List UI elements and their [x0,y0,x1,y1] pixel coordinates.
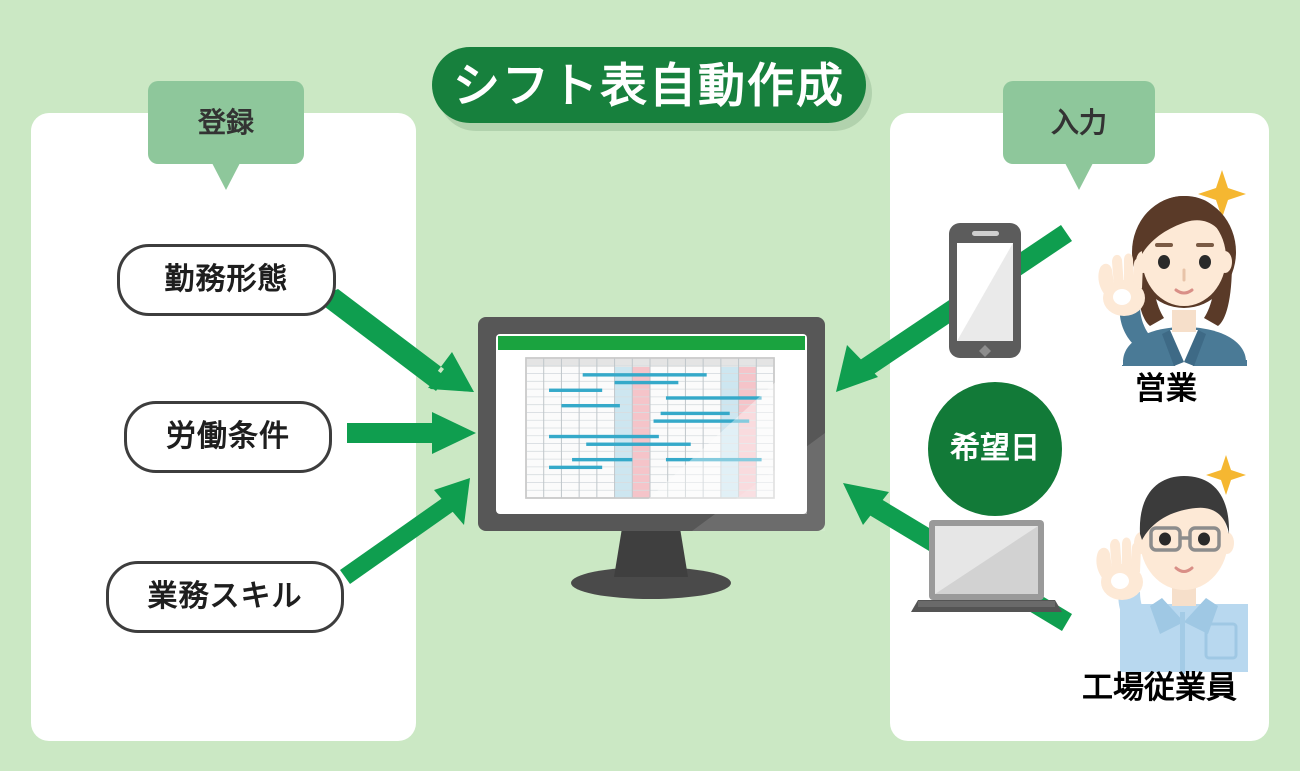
infographic-canvas: シフト表自動作成 登録 勤務形態 労働条件 業務スキル [0,0,1300,771]
wish-date-badge-label: 希望日 [950,434,1040,464]
ok-hand-icon [1098,253,1145,316]
sales-person-avatar [1098,196,1247,372]
laptop-icon [911,520,1062,612]
factory-person-avatar [1096,476,1248,674]
ok-hand-icon [1096,537,1143,600]
smartphone-icon [949,223,1021,358]
caption-factory: 工場従業員 [1082,672,1237,703]
caption-sales: 営業 [1135,373,1197,404]
device-and-people-layer [0,0,1300,771]
wish-date-badge: 希望日 [928,382,1062,516]
